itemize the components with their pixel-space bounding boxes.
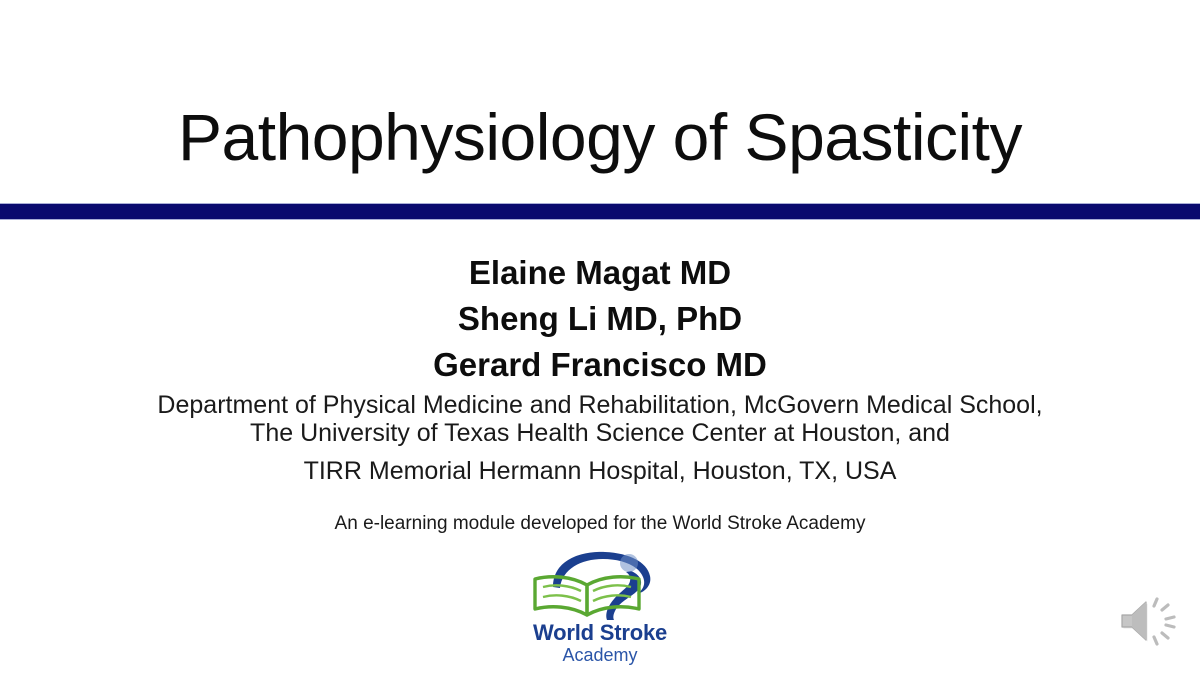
world-stroke-academy-logo: World Stroke Academy [519,549,681,667]
affiliation-line: TIRR Memorial Hermann Hospital, Houston,… [0,457,1200,485]
author-name: Gerard Francisco MD [0,342,1200,388]
author-name: Sheng Li MD, PhD [0,296,1200,342]
affiliation-line: Department of Physical Medicine and Reha… [0,391,1200,419]
module-note: An e-learning module developed for the W… [0,513,1200,535]
swoosh-highlight [620,554,638,572]
book-line [543,585,581,591]
logo-secondary-text: Academy [519,645,681,666]
divider-bar [0,203,1200,220]
page-title: Pathophysiology of Spasticity [0,103,1200,172]
open-book-swoosh-icon [519,549,681,621]
logo-primary-text: World Stroke [519,621,681,645]
author-name: Elaine Magat MD [0,250,1200,296]
speaker-icon[interactable] [1116,592,1186,654]
affiliation-line: The University of Texas Health Science C… [0,419,1200,447]
author-list: Elaine Magat MD Sheng Li MD, PhD Gerard … [0,250,1200,388]
presentation-slide: Pathophysiology of Spasticity Elaine Mag… [0,0,1200,675]
sound-waves [1154,599,1174,644]
affiliation-block: Department of Physical Medicine and Reha… [0,391,1200,485]
audio-playback-control[interactable] [1116,592,1186,654]
title-divider [0,201,1200,222]
title-block: Pathophysiology of Spasticity [0,103,1200,172]
book-line [543,595,581,601]
